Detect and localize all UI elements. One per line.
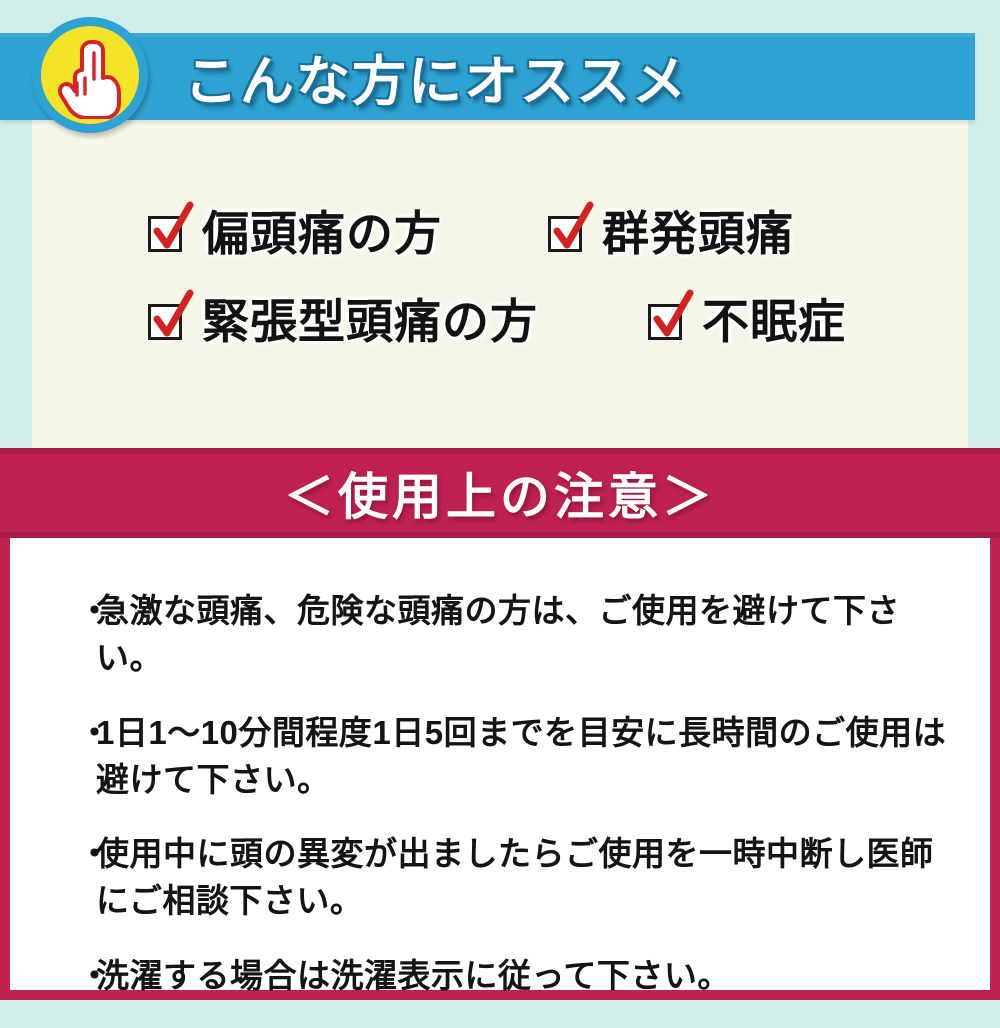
caution-note-text: 洗濯する場合は洗濯表示に従って下さい。	[96, 953, 958, 1000]
caution-note-text: 使用中に頭の異変が出ましたらご使用を一時中断し医師にご相談下さい。	[96, 831, 958, 925]
checkbox-checked-icon[interactable]	[148, 301, 188, 343]
checkbox-checked-icon[interactable]	[148, 213, 188, 255]
checklist-item[interactable]: 群発頭痛	[548, 210, 794, 257]
checkbox-checked-icon[interactable]	[648, 301, 688, 343]
caution-note-text: 1日1〜10分間程度1日5回までを目安に長時間のご使用は避けて下さい。	[96, 710, 958, 804]
checklist-item-label: 偏頭痛の方	[202, 210, 442, 257]
checklist-item[interactable]: 不眠症	[648, 298, 846, 345]
bullet-mark: ・	[78, 831, 96, 878]
bullet-mark: ・	[78, 710, 96, 757]
cautions-list: ・ 急激な頭痛、危険な頭痛の方は、ご使用を避けて下さい。 ・ 1日1〜10分間程…	[78, 588, 958, 1028]
caution-note: ・ 急激な頭痛、危険な頭痛の方は、ご使用を避けて下さい。	[78, 588, 958, 682]
recommend-section: こんな方にオススメ	[0, 0, 1000, 448]
bullet-mark: ・	[78, 588, 96, 635]
checklist-item-label: 不眠症	[702, 298, 846, 345]
checklist-item-label: 群発頭痛	[602, 210, 794, 257]
caution-note-text: 急激な頭痛、危険な頭痛の方は、ご使用を避けて下さい。	[96, 588, 958, 682]
cautions-section: ＜使用上の注意＞ ・ 急激な頭痛、危険な頭痛の方は、ご使用を避けて下さい。 ・ …	[0, 448, 1000, 1000]
recommend-checklist: 偏頭痛の方 群発頭痛 緊張型頭痛の方	[0, 0, 1000, 448]
caution-note: ・ 使用中に頭の異変が出ましたらご使用を一時中断し医師にご相談下さい。	[78, 831, 958, 925]
caution-note: ・ 洗濯する場合は洗濯表示に従って下さい。	[78, 953, 958, 1000]
cautions-body: ・ 急激な頭痛、危険な頭痛の方は、ご使用を避けて下さい。 ・ 1日1〜10分間程…	[0, 538, 1000, 1000]
checklist-item-label: 緊張型頭痛の方	[202, 298, 538, 345]
checkbox-checked-icon[interactable]	[548, 213, 588, 255]
bullet-mark: ・	[78, 953, 96, 1000]
checklist-item[interactable]: 緊張型頭痛の方	[148, 298, 538, 345]
checklist-item[interactable]: 偏頭痛の方	[148, 210, 442, 257]
cautions-title: ＜使用上の注意＞	[0, 448, 1000, 538]
caution-note: ・ 1日1〜10分間程度1日5回までを目安に長時間のご使用は避けて下さい。	[78, 710, 958, 804]
infographic-page: こんな方にオススメ	[0, 0, 1000, 1000]
